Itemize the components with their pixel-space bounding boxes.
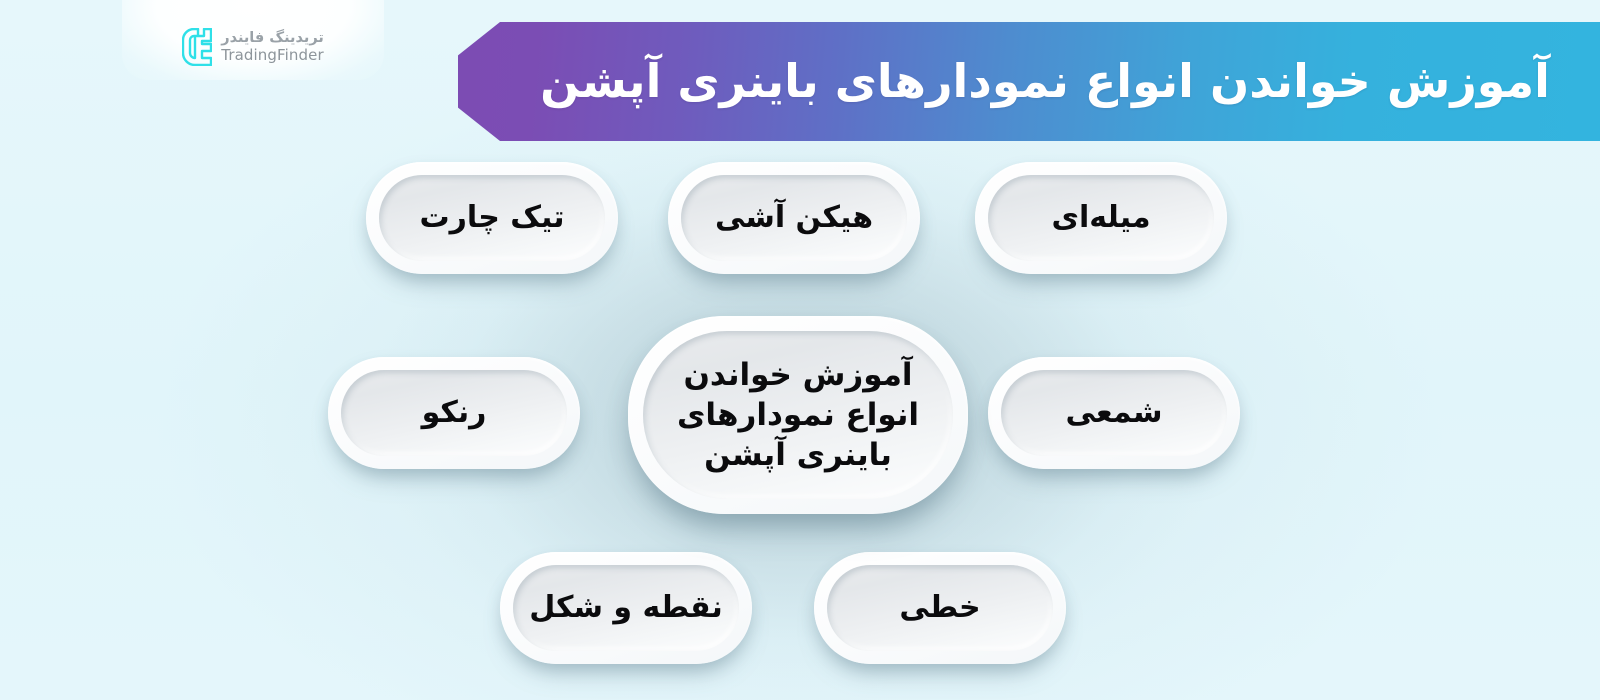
node-face: خطی	[827, 565, 1053, 651]
page-title: آموزش خواندن انواع نمودارهای باینری آپشن	[540, 54, 1550, 108]
diagram-center-node[interactable]: آموزش خواندن انواع نمودارهای باینری آپشن	[628, 316, 968, 514]
diagram-node-label: میله‌ای	[1051, 201, 1150, 235]
brand-logo: تریدینگ فایندر TradingFinder	[122, 0, 384, 80]
brand-name-fa: تریدینگ فایندر	[221, 30, 324, 47]
node-face: تیک چارت	[379, 175, 605, 261]
center-label-line-3: باینری آپشن	[704, 437, 892, 473]
header-banner: آموزش خواندن انواع نمودارهای باینری آپشن	[458, 22, 1600, 141]
node-face: رنکو	[341, 370, 567, 456]
diagram-node-label: رنکو	[422, 396, 487, 430]
infographic-canvas: تریدینگ فایندر TradingFinder آموزش خواند…	[0, 0, 1600, 700]
node-face: نقطه و شکل	[513, 565, 739, 651]
diagram-node-bar[interactable]: میله‌ای	[975, 162, 1227, 274]
diagram-center-label: آموزش خواندن انواع نمودارهای باینری آپشن	[659, 355, 937, 476]
diagram-node-line[interactable]: خطی	[814, 552, 1066, 664]
tradingfinder-logo-icon	[182, 28, 212, 66]
diagram-node-label: تیک چارت	[420, 201, 565, 235]
node-face: هیکن آشی	[681, 175, 907, 261]
node-face: شمعی	[1001, 370, 1227, 456]
diagram-node-label: نقطه و شکل	[529, 591, 723, 625]
diagram-node-renko[interactable]: رنکو	[328, 357, 580, 469]
diagram-node-heikin[interactable]: هیکن آشی	[668, 162, 920, 274]
center-label-line-2: انواع نمودارهای	[677, 397, 919, 433]
node-face: میله‌ای	[988, 175, 1214, 261]
diagram-node-label: هیکن آشی	[715, 201, 873, 235]
diagram-node-label: خطی	[899, 591, 980, 625]
node-face: آموزش خواندن انواع نمودارهای باینری آپشن	[643, 331, 953, 499]
diagram-node-label: شمعی	[1066, 396, 1163, 430]
center-label-line-1: آموزش خواندن	[683, 357, 912, 393]
diagram-node-tick[interactable]: تیک چارت	[366, 162, 618, 274]
diagram-node-candle[interactable]: شمعی	[988, 357, 1240, 469]
diagram-node-point-and-figure[interactable]: نقطه و شکل	[500, 552, 752, 664]
brand-name-en: TradingFinder	[221, 47, 324, 64]
